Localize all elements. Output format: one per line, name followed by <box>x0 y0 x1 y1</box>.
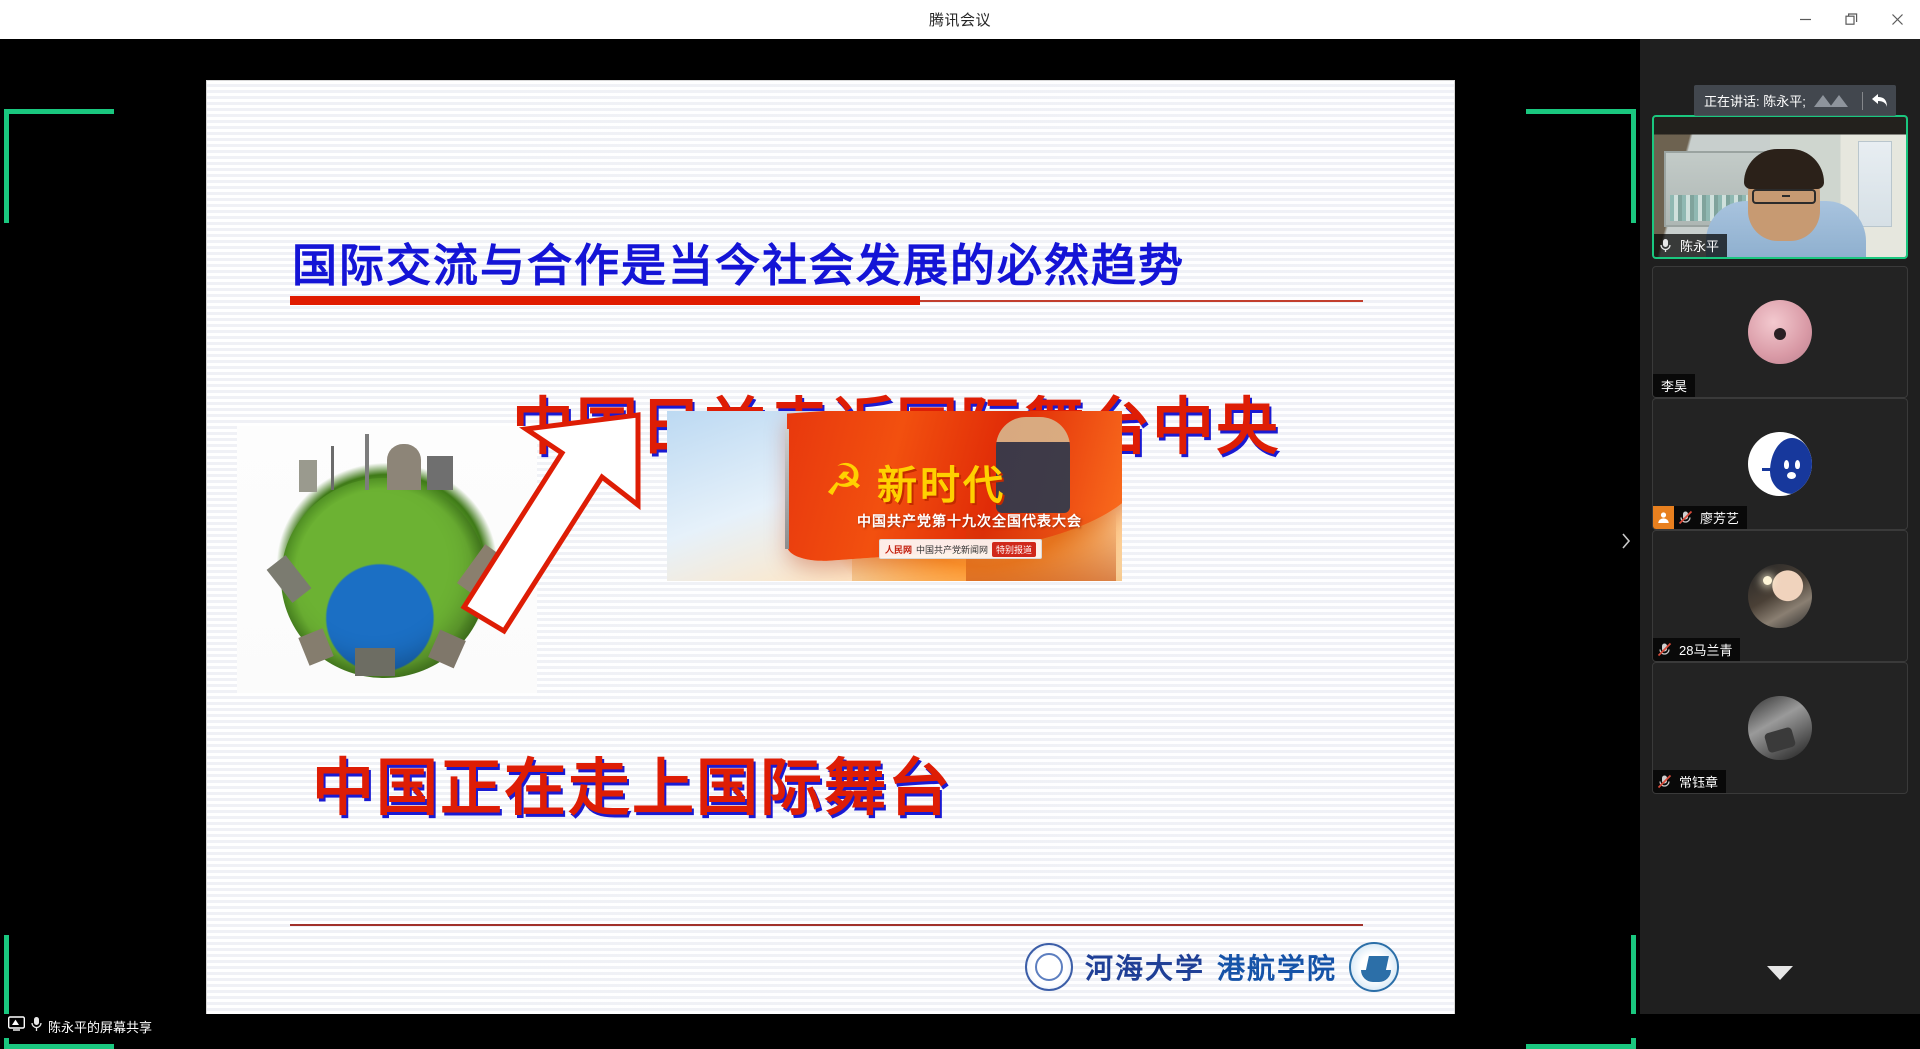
mic-muted-icon <box>1653 770 1675 793</box>
slide-footer-logos: 河海大学 港航学院 <box>1025 942 1399 992</box>
participant-avatar <box>1748 564 1812 628</box>
flag-pole <box>785 429 789 549</box>
restore-button[interactable] <box>1828 0 1874 39</box>
participant-namebar: 28马兰青 <box>1653 638 1740 661</box>
participant-namebar: 廖芳艺 <box>1653 506 1747 529</box>
participant-namebar: 李昊 <box>1653 374 1695 397</box>
wall-scroll-background <box>1858 141 1892 227</box>
chevron-right-icon <box>1621 532 1631 550</box>
person-glasses <box>1752 189 1816 204</box>
participant-tile[interactable]: 常钰章 <box>1652 662 1908 794</box>
audio-wave-icon <box>1814 93 1854 109</box>
participant-avatar <box>1748 432 1812 496</box>
minimize-button[interactable] <box>1782 0 1828 39</box>
app-title: 腾讯会议 <box>929 9 991 30</box>
hammer-sickle-icon: ☭ <box>817 455 871 507</box>
presentation-slide: 国际交流与合作是当今社会发展的必然趋势 中国日益走近国际舞台中央 中国正在走上国… <box>206 80 1455 1015</box>
hohai-university-seal-icon <box>1025 943 1073 991</box>
participant-name: 28马兰青 <box>1675 640 1732 659</box>
status-bar: 陈永平的屏幕共享 <box>0 1014 1920 1038</box>
mic-on-icon <box>1654 234 1676 257</box>
college-name: 港航学院 <box>1217 947 1337 987</box>
participant-tile[interactable]: 陈永平 <box>1652 115 1908 259</box>
chip-people-label: 人民网 <box>885 543 912 556</box>
back-arrow-icon <box>1871 93 1888 108</box>
speaking-banner: 正在讲话: 陈永平; <box>1694 85 1896 116</box>
share-corner-top-right <box>1526 109 1636 223</box>
slide-footer-rule <box>290 924 1363 926</box>
mic-muted-icon <box>1674 506 1696 529</box>
university-name: 河海大学 <box>1085 947 1205 987</box>
leader-figure <box>996 417 1070 513</box>
window-controls <box>1782 0 1920 39</box>
share-corner-top-left <box>4 109 114 223</box>
party-flag-banner-image: ☭ 新时代 中国共产党第十九次全国代表大会 人民网 中国共产党新闻网 特别报道 <box>667 411 1122 581</box>
back-arrow-button[interactable] <box>1871 93 1888 108</box>
close-button[interactable] <box>1874 0 1920 39</box>
banner-source-chip: 人民网 中国共产党新闻网 特别报道 <box>879 539 1042 559</box>
participant-avatar <box>1748 300 1812 364</box>
participant-name: 廖芳艺 <box>1696 508 1739 527</box>
speaking-label: 正在讲话: 陈永平; <box>1704 91 1806 110</box>
mic-muted-icon <box>1653 638 1675 661</box>
mic-on-icon <box>30 1016 43 1037</box>
red-arrow-graphic <box>432 391 682 661</box>
person-hair <box>1744 149 1824 189</box>
host-badge-icon <box>1653 506 1674 529</box>
chip-special-label: 特别报道 <box>992 542 1036 557</box>
minimize-icon <box>1799 13 1812 26</box>
banner-big-text: 新时代 <box>877 453 1006 511</box>
title-bar: 腾讯会议 <box>0 0 1920 39</box>
close-icon <box>1891 13 1904 26</box>
participant-tile[interactable]: 廖芳艺 <box>1652 398 1908 530</box>
restore-icon <box>1845 13 1858 26</box>
participants-sidebar: 正在讲话: 陈永平; <box>1640 39 1920 1014</box>
participant-name: 常钰章 <box>1675 772 1718 791</box>
participant-name: 李昊 <box>1653 376 1687 395</box>
sidebar-collapse-button[interactable] <box>1618 524 1634 558</box>
participant-tile[interactable]: 李昊 <box>1652 266 1908 398</box>
participant-tile[interactable]: 28马兰青 <box>1652 530 1908 662</box>
participant-name: 陈永平 <box>1676 236 1719 255</box>
scroll-down-button[interactable] <box>1767 965 1793 981</box>
title-underline-red <box>290 296 920 305</box>
share-status-label: 陈永平的屏幕共享 <box>48 1017 152 1036</box>
slide-heading-2: 中国正在走上国际舞台 <box>312 737 952 827</box>
screen-share-icon <box>8 1016 25 1036</box>
banner-sub-text: 中国共产党第十九次全国代表大会 <box>857 511 1082 531</box>
triangle-down-icon <box>1767 966 1793 980</box>
shared-screen-stage: 国际交流与合作是当今社会发展的必然趋势 中国日益走近国际舞台中央 中国正在走上国… <box>0 39 1640 1014</box>
college-badge-icon <box>1349 942 1399 992</box>
chip-news-label: 中国共产党新闻网 <box>916 543 988 556</box>
participant-namebar: 常钰章 <box>1653 770 1726 793</box>
banner-divider <box>1862 92 1863 110</box>
participant-avatar <box>1748 696 1812 760</box>
participant-namebar: 陈永平 <box>1654 234 1727 257</box>
slide-title: 国际交流与合作是当今社会发展的必然趋势 <box>292 229 1185 294</box>
